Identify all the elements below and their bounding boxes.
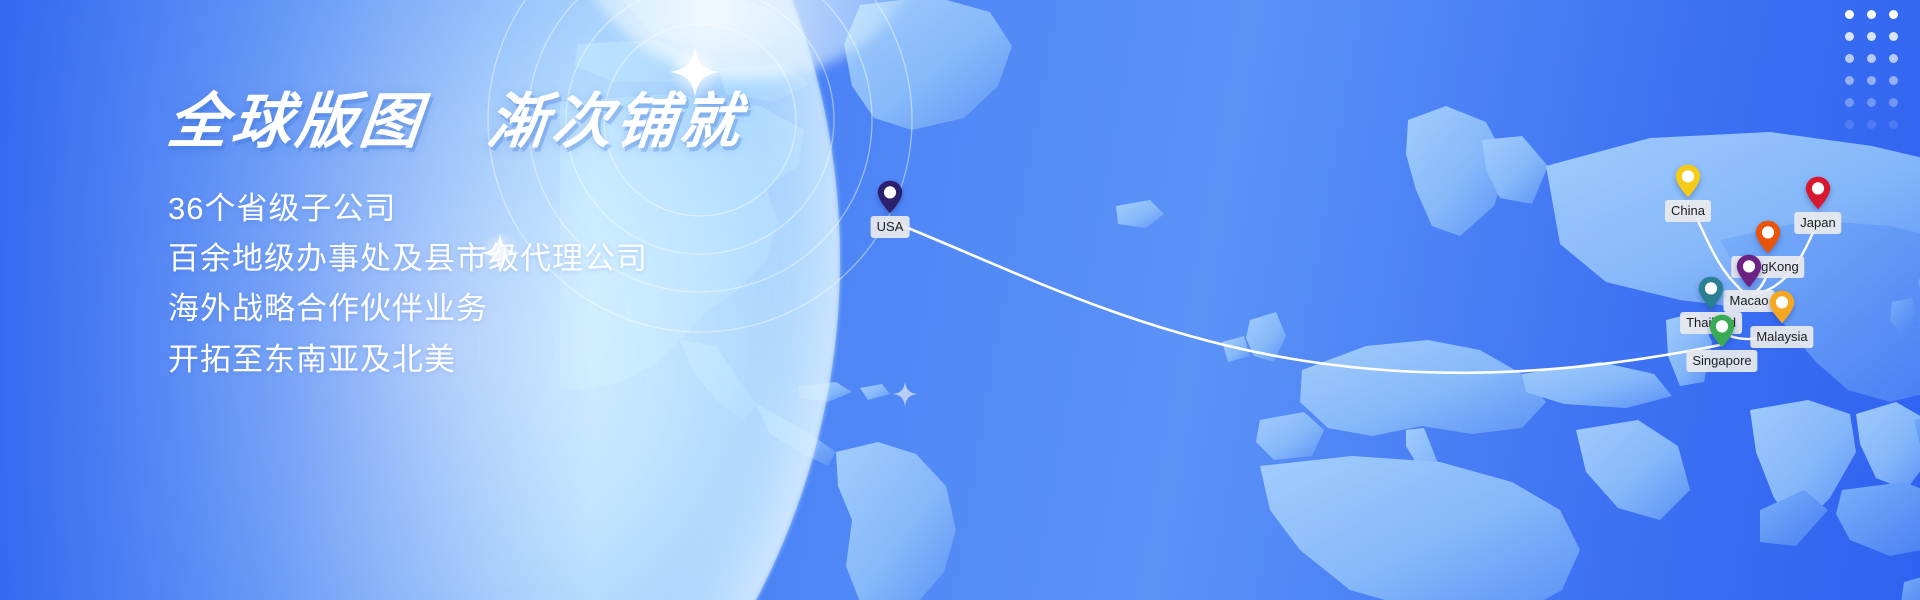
map-marker-usa[interactable]: USA (877, 180, 903, 214)
banner-root: 全球版图 渐次铺就 36个省级子公司 百余地级办事处及县市级代理公司 海外战略合… (0, 0, 1920, 600)
grid-dot (1845, 120, 1854, 129)
grid-dot (1845, 10, 1854, 19)
map-marker-japan[interactable]: Japan (1805, 176, 1831, 210)
grid-dot (1867, 120, 1876, 129)
map-pin-icon (1769, 290, 1795, 324)
grid-dot (1889, 54, 1898, 63)
map-pin-icon (1709, 314, 1735, 348)
grid-dot (1889, 98, 1898, 107)
map-pin-icon (1736, 254, 1762, 288)
map-marker-label: China (1665, 200, 1711, 222)
map-pin-icon (1698, 276, 1724, 310)
grid-dot (1867, 98, 1876, 107)
subtitle-line-3: 海外战略合作伙伴业务 (168, 288, 928, 329)
map-marker-label: USA (871, 216, 910, 238)
grid-dot (1845, 54, 1854, 63)
grid-dot (1889, 32, 1898, 41)
map-pin-icon (1805, 176, 1831, 210)
map-marker-label: Singapore (1686, 350, 1757, 372)
map-pin-icon (877, 180, 903, 214)
map-marker-label: Japan (1794, 212, 1841, 234)
grid-dot (1889, 10, 1898, 19)
subtitle-list: 36个省级子公司 百余地级办事处及县市级代理公司 海外战略合作伙伴业务 开拓至东… (168, 188, 928, 380)
grid-dot (1845, 98, 1854, 107)
grid-dot (1889, 120, 1898, 129)
subtitle-line-2: 百余地级办事处及县市级代理公司 (168, 238, 928, 279)
map-marker-macao[interactable]: Macao (1736, 254, 1762, 288)
grid-dot (1867, 76, 1876, 85)
page-title: 全球版图 渐次铺就 (165, 92, 931, 152)
map-pin-icon (1675, 164, 1701, 198)
grid-dot (1889, 76, 1898, 85)
map-marker-thailand[interactable]: Thailand (1698, 276, 1724, 310)
grid-dot (1845, 32, 1854, 41)
map-marker-hongkong[interactable]: HongKong (1755, 220, 1781, 254)
grid-dot (1867, 32, 1876, 41)
subtitle-line-1: 36个省级子公司 (168, 188, 928, 229)
subtitle-line-4: 开拓至东南亚及北美 (168, 339, 928, 380)
grid-dot (1867, 54, 1876, 63)
map-marker-china[interactable]: China (1675, 164, 1701, 198)
map-marker-singapore[interactable]: Singapore (1709, 314, 1735, 348)
grid-dot (1867, 10, 1876, 19)
map-marker-label: Macao (1723, 290, 1774, 312)
map-pin-icon (1755, 220, 1781, 254)
decorative-dot-grid (1842, 8, 1900, 132)
map-marker-malaysia[interactable]: Malaysia (1769, 290, 1795, 324)
grid-dot (1845, 76, 1854, 85)
map-marker-label: Malaysia (1750, 326, 1813, 348)
copy-block: 全球版图 渐次铺就 36个省级子公司 百余地级办事处及县市级代理公司 海外战略合… (168, 92, 928, 380)
